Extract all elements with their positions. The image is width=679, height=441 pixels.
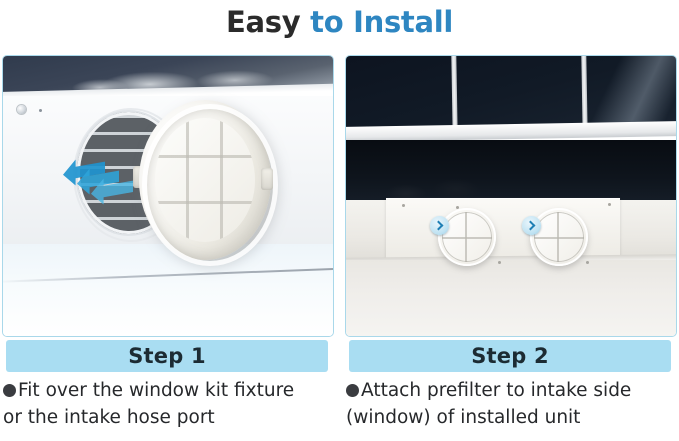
ac-unit-lower-surface [3, 244, 333, 336]
step-2-band: Step 2 [349, 340, 671, 372]
step-2-band-label: Step 2 [471, 344, 549, 368]
kit-screw [498, 261, 501, 264]
page-title-dark-part: Easy [226, 5, 310, 39]
prefilter-cap [139, 100, 271, 260]
step-1-illustration [3, 56, 333, 336]
step-1-band-label: Step 1 [128, 344, 206, 368]
step-1-caption-line-2: or the intake hose port [3, 404, 338, 431]
kit-screw [586, 261, 589, 264]
intake-port-left [438, 208, 496, 266]
ac-unit-marker-dot [39, 109, 42, 112]
window-lower-pane [346, 140, 676, 202]
bullet-icon [346, 384, 359, 397]
prefilter-cap-mesh [155, 118, 255, 242]
chevron-right-badge-icon [430, 216, 449, 235]
window-upper-pane [346, 56, 676, 130]
step-1-caption: Fit over the window kit fixture or the i… [3, 377, 338, 431]
chevron-right-badge-icon [522, 216, 541, 235]
prefilter-cap-tab-right [261, 168, 273, 190]
kit-screw [608, 203, 611, 206]
step-1-caption-line-1: Fit over the window kit fixture [18, 380, 294, 401]
ac-unit-screw [17, 105, 26, 114]
step-1-photo [2, 55, 334, 337]
step-1-band: Step 1 [6, 340, 328, 372]
kit-screw [402, 204, 405, 207]
bullet-icon [3, 384, 16, 397]
window-glare [556, 56, 676, 130]
easy-to-install-infographic: Easy to Install [0, 0, 679, 441]
step-2-caption: Attach prefilter to intake side (window)… [346, 377, 679, 431]
step-1-column: Step 1 Fit over the window kit fixture o… [2, 55, 334, 441]
page-title-blue-part: to Install [310, 5, 453, 39]
step-2-illustration [346, 56, 676, 336]
intake-port-right [530, 208, 588, 266]
step-2-caption-line-1: Attach prefilter to intake side [361, 380, 631, 401]
step-2-column: Step 2 Attach prefilter to intake side (… [345, 55, 677, 441]
step-2-photo [345, 55, 677, 337]
page-title: Easy to Install [0, 2, 679, 42]
kit-base-surface [346, 260, 676, 336]
window-mullion [451, 56, 458, 130]
step-2-caption-line-2: (window) of installed unit [346, 404, 679, 431]
